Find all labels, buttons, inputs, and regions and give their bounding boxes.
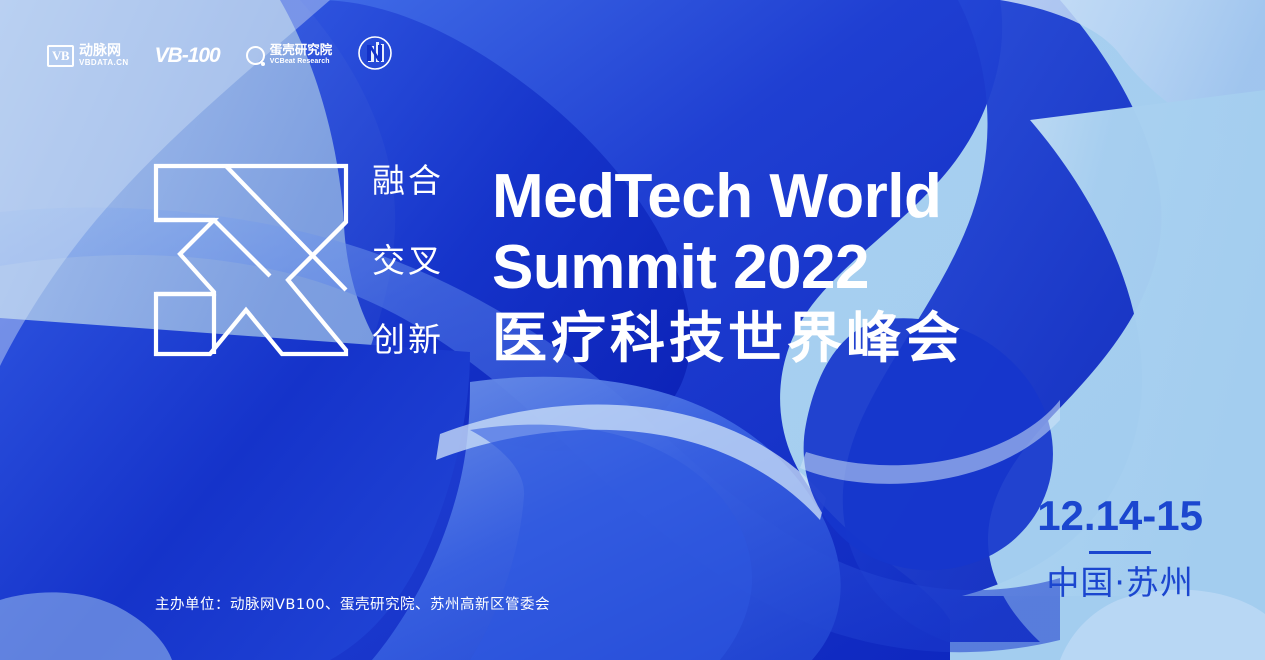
- vcbeat-name-cn: 蛋壳研究院: [270, 44, 333, 58]
- date-divider: [1089, 551, 1151, 554]
- logo-vcbeat-research[interactable]: 蛋壳研究院 VCBeat Research: [246, 44, 333, 66]
- title-en-line-2: Summit 2022: [492, 233, 964, 304]
- x-logo-icon: [150, 160, 350, 360]
- logo-vb100[interactable]: VB-100: [155, 44, 220, 68]
- vcbeat-wordmark: 蛋壳研究院 VCBeat Research: [270, 44, 333, 66]
- slogan-line-2: 交叉: [372, 244, 444, 277]
- vbdata-name-cn: 动脉网: [79, 43, 129, 58]
- event-date: 12.14-15: [1037, 495, 1203, 537]
- title-lockup: 融合 交叉 创新 MedTech World Summit 2022 医疗科技世…: [150, 160, 964, 366]
- date-location-block: 12.14-15 中国·苏州: [1037, 495, 1203, 599]
- vcbeat-name-en: VCBeat Research: [270, 58, 333, 66]
- logo-vbdata[interactable]: VB 动脉网 VBDATA.CN: [47, 43, 129, 67]
- organizers-line: 主办单位：动脉网VB100、蛋壳研究院、苏州高新区管委会: [155, 593, 550, 614]
- suzhou-emblem-icon: [356, 32, 394, 74]
- vb-mark-icon: VB: [47, 45, 74, 67]
- slogan-column: 融合 交叉 创新: [372, 160, 444, 356]
- slogan-line-1: 融合: [372, 164, 444, 197]
- vbdata-wordmark: 动脉网 VBDATA.CN: [79, 43, 129, 67]
- vbdata-name-en: VBDATA.CN: [79, 58, 129, 68]
- circle-o-icon: [246, 46, 265, 65]
- sponsor-logo-bar: VB 动脉网 VBDATA.CN VB-100 蛋壳研究院 VCBeat Res…: [47, 32, 394, 79]
- title-column: MedTech World Summit 2022 医疗科技世界峰会: [492, 160, 964, 366]
- logo-suzhou-hi-tech-district[interactable]: [356, 32, 394, 79]
- event-city: 中国·苏州: [1046, 566, 1194, 599]
- title-cn: 医疗科技世界峰会: [492, 311, 964, 366]
- title-en-line-1: MedTech World: [492, 162, 964, 233]
- slogan-line-3: 创新: [372, 323, 444, 356]
- poster-canvas: VB 动脉网 VBDATA.CN VB-100 蛋壳研究院 VCBeat Res…: [0, 0, 1265, 660]
